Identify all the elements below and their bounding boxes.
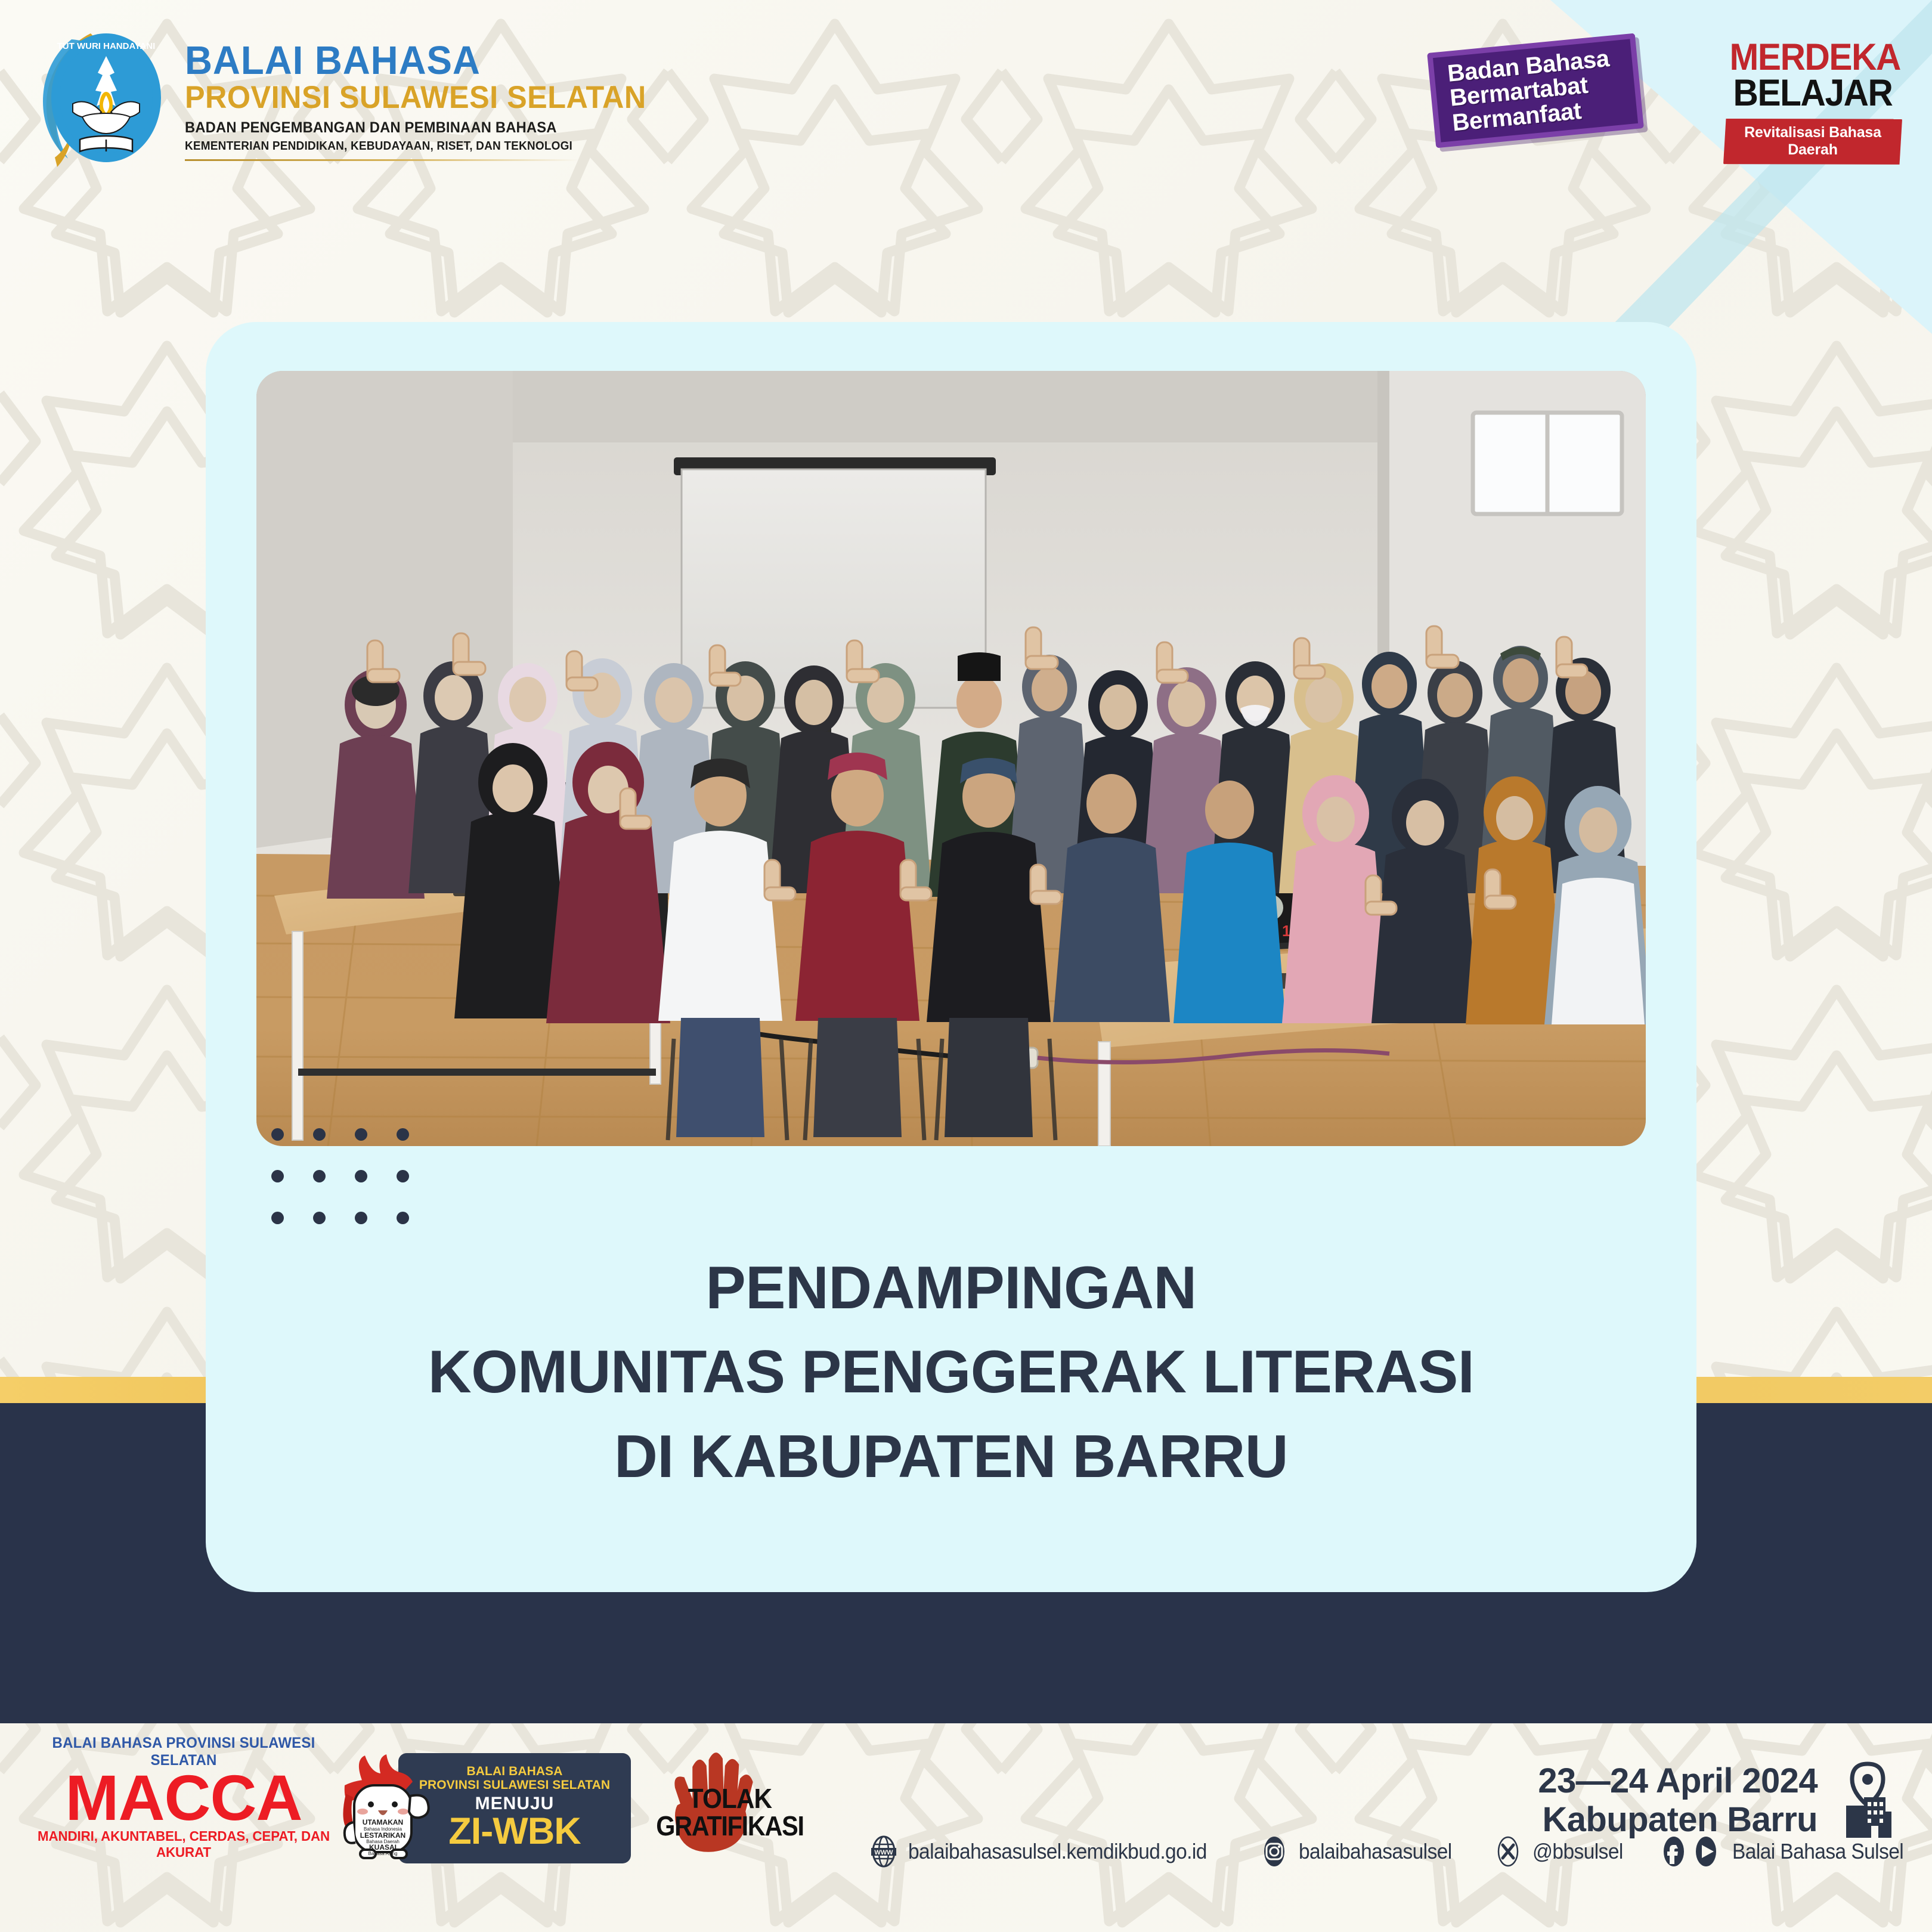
- page-header: TUT WURI HANDAYANI BALAI BAHASA PROVINSI…: [0, 0, 1932, 197]
- mascot-text-5: KUASAI: [369, 1843, 397, 1851]
- merdeka-belajar-badge: MERDEKA BELAJAR Revitalisasi Bahasa Daer…: [1723, 41, 1902, 165]
- belajar-line: BELAJAR: [1730, 76, 1896, 111]
- map-pin-building-icon: [1832, 1759, 1903, 1843]
- x-twitter-icon: [1492, 1835, 1524, 1868]
- content-card: 1932: [206, 322, 1696, 1592]
- social-label-facebook-youtube: Balai Bahasa Sulsel: [1732, 1839, 1903, 1864]
- ziwbk-line-2: PROVINSI SULAWESI SELATAN: [419, 1779, 610, 1792]
- event-datetime-location: 23—24 April 2024 Kabupaten Barru: [1538, 1759, 1903, 1843]
- svg-text:TUT WURI HANDAYANI: TUT WURI HANDAYANI: [57, 41, 156, 51]
- page-footer: BALAI BAHASA PROVINSI SULAWESI SELATAN M…: [0, 1723, 1932, 1932]
- logo-line-1: BALAI BAHASA: [185, 42, 646, 80]
- badan-bahasa-bermartabat-badge: Badan Bahasa Bermartabat Bermanfaat: [1427, 33, 1644, 148]
- svg-text:WWW: WWW: [874, 1849, 893, 1856]
- instagram-icon: [1258, 1835, 1290, 1868]
- decorative-dot-grid: [271, 1128, 408, 1236]
- social-label-instagram: balaibahasasulsel: [1299, 1839, 1452, 1864]
- title-line-1: PENDAMPINGAN: [259, 1246, 1643, 1330]
- globe-www-icon: WWW: [868, 1835, 900, 1868]
- mascot-text-6: Bahasa Asing: [369, 1851, 398, 1856]
- tut-wuri-handayani-emblem: TUT WURI HANDAYANI: [36, 29, 172, 169]
- event-title: PENDAMPINGAN KOMUNITAS PENGGERAK LITERAS…: [206, 1246, 1696, 1499]
- title-line-3: DI KABUPATEN BARRU: [259, 1415, 1643, 1499]
- macca-tagline: MANDIRI, AKUNTABEL, CERDAS, CEPAT, DAN A…: [33, 1828, 334, 1860]
- ziwbk-wordmark: ZI-WBK: [448, 1813, 580, 1850]
- zi-wbk-badge: BALAI BAHASA PROVINSI SULAWESI SELATAN M…: [327, 1753, 631, 1863]
- macca-badge: BALAI BAHASA PROVINSI SULAWESI SELATAN M…: [29, 1735, 339, 1860]
- merdeka-line: MERDEKA: [1730, 41, 1896, 75]
- tolak-line-2: GRATIFIKASI: [655, 1813, 804, 1840]
- macca-institution-line: BALAI BAHASA PROVINSI SULAWESI SELATAN: [35, 1735, 332, 1769]
- event-location: Kabupaten Barru: [1538, 1801, 1818, 1840]
- event-date: 23—24 April 2024: [1538, 1762, 1818, 1801]
- logo-line-2: PROVINSI SULAWESI SELATAN: [185, 82, 646, 114]
- logo-line-3: BADAN PENGEMBANGAN DAN PEMBINAAN BAHASA: [185, 119, 646, 137]
- tolak-gratifikasi-badge: TOLAK GRATIFIKASI: [647, 1748, 814, 1862]
- ziwbk-line-1: BALAI BAHASA: [466, 1765, 562, 1778]
- mascot-text-1: UTAMAKAN: [363, 1818, 403, 1826]
- title-line-2: KOMUNITAS PENGGERAK LITERASI: [259, 1330, 1643, 1414]
- mascot-text-3: LESTARIKAN: [360, 1831, 405, 1840]
- logo-underline-rule: [185, 159, 578, 161]
- social-item-website[interactable]: WWW balaibahasasulsel.kemdikbud.go.id: [868, 1835, 1230, 1868]
- social-label-x: @bbsulsel: [1532, 1839, 1623, 1864]
- event-group-photo: 1932: [256, 371, 1646, 1146]
- merdeka-tagline: Revitalisasi Bahasa Daerah: [1723, 119, 1902, 165]
- social-item-instagram[interactable]: balaibahasasulsel: [1258, 1835, 1463, 1868]
- logo-line-4: KEMENTERIAN PENDIDIKAN, KEBUDAYAAN, RISE…: [185, 140, 646, 153]
- tolak-line-1: TOLAK: [654, 1785, 806, 1812]
- social-label-website: balaibahasasulsel.kemdikbud.go.id: [908, 1839, 1207, 1864]
- institution-logo-block: TUT WURI HANDAYANI BALAI BAHASA PROVINSI…: [36, 29, 670, 169]
- macca-wordmark: MACCA: [29, 1768, 339, 1827]
- ziwbk-mascot-icon: UTAMAKAN Bahasa Indonesia LESTARIKAN Bah…: [327, 1752, 446, 1865]
